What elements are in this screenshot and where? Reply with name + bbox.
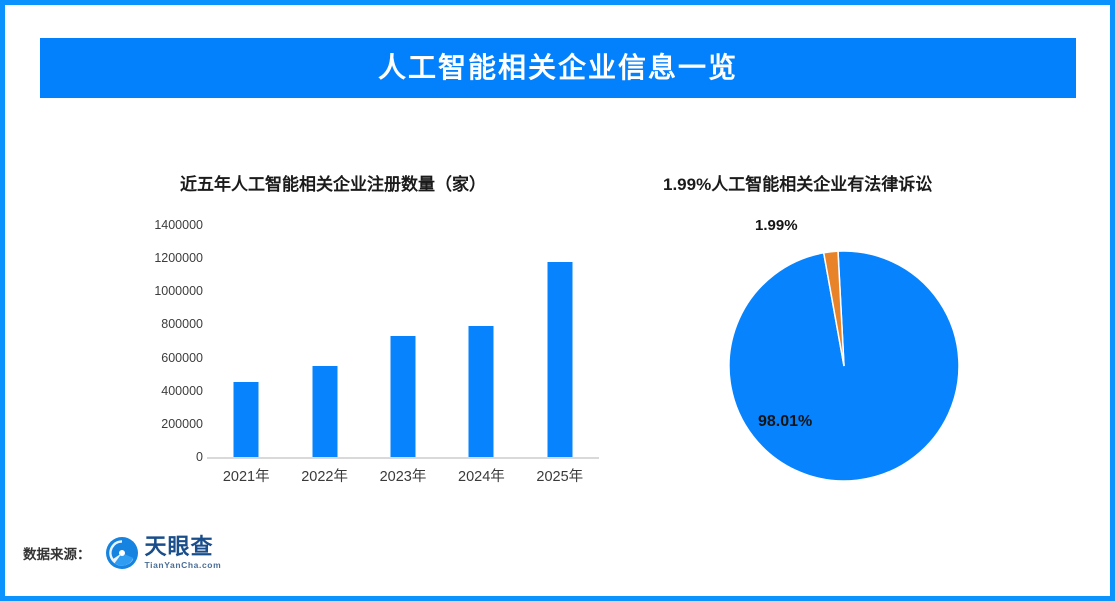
x-axis-tick-label: 2023年 xyxy=(364,465,442,486)
x-axis-tick-label: 2022年 xyxy=(285,465,363,486)
bar-chart-baseline xyxy=(207,457,599,459)
tianyancha-logo: 天眼查 TianYanCha.com xyxy=(105,536,222,570)
y-axis-tick-label: 1400000 xyxy=(125,218,203,232)
pie-slice-label-small: 1.99% xyxy=(755,217,798,234)
bar-column[interactable] xyxy=(547,262,572,457)
bar-chart-panel: 近五年人工智能相关企业注册数量（家） 020000040000060000080… xyxy=(125,155,625,535)
bar-column[interactable] xyxy=(312,366,337,457)
y-axis-tick-label: 1200000 xyxy=(125,251,203,265)
bar-slot xyxy=(521,225,599,457)
eye-aperture-icon xyxy=(105,536,139,570)
bar-chart-plot-area xyxy=(207,225,599,457)
brand-text: 天眼查 TianYanCha.com xyxy=(145,536,222,570)
pie-chart-svg xyxy=(728,250,960,482)
bar-slot xyxy=(207,225,285,457)
y-axis-tick-label: 800000 xyxy=(125,317,203,331)
bar-slot xyxy=(364,225,442,457)
x-axis-tick-label: 2025年 xyxy=(521,465,599,486)
x-axis-tick-label: 2021年 xyxy=(207,465,285,486)
page-title: 人工智能相关企业信息一览 xyxy=(378,54,738,82)
pie-slice-label-large: 98.01% xyxy=(758,413,812,431)
y-axis-tick-label: 400000 xyxy=(125,384,203,398)
pie-chart-plot xyxy=(728,250,960,482)
y-axis-tick-label: 200000 xyxy=(125,417,203,431)
pie-chart-title: 1.99%人工智能相关企业有法律诉讼 xyxy=(663,170,932,195)
bar-slot xyxy=(442,225,520,457)
bar-column[interactable] xyxy=(390,336,415,457)
bar-chart-x-axis: 2021年2022年2023年2024年2025年 xyxy=(207,465,599,495)
bar-column[interactable] xyxy=(234,382,259,457)
bar-chart-y-axis: 0200000400000600000800000100000012000001… xyxy=(125,225,203,471)
brand-domain: TianYanCha.com xyxy=(145,561,222,570)
data-source-footer: 数据来源： 天眼查 TianYanCha.com xyxy=(23,536,221,570)
bar-column[interactable] xyxy=(469,326,494,457)
bar-slot xyxy=(285,225,363,457)
y-axis-tick-label: 1000000 xyxy=(125,284,203,298)
data-source-label: 数据来源： xyxy=(23,543,91,563)
infographic-page: 人工智能相关企业信息一览 近五年人工智能相关企业注册数量（家） 02000004… xyxy=(0,0,1115,601)
bar-chart-plot: 0200000400000600000800000100000012000001… xyxy=(125,225,625,515)
y-axis-tick-label: 0 xyxy=(125,450,203,464)
brand-name: 天眼查 xyxy=(145,536,222,558)
page-title-banner: 人工智能相关企业信息一览 xyxy=(40,38,1076,98)
x-axis-tick-label: 2024年 xyxy=(442,465,520,486)
y-axis-tick-label: 600000 xyxy=(125,351,203,365)
bar-chart-title: 近五年人工智能相关企业注册数量（家） xyxy=(180,170,486,195)
pie-chart-panel: 1.99%人工智能相关企业有法律诉讼 1.99% 98.01% xyxy=(635,155,1055,535)
